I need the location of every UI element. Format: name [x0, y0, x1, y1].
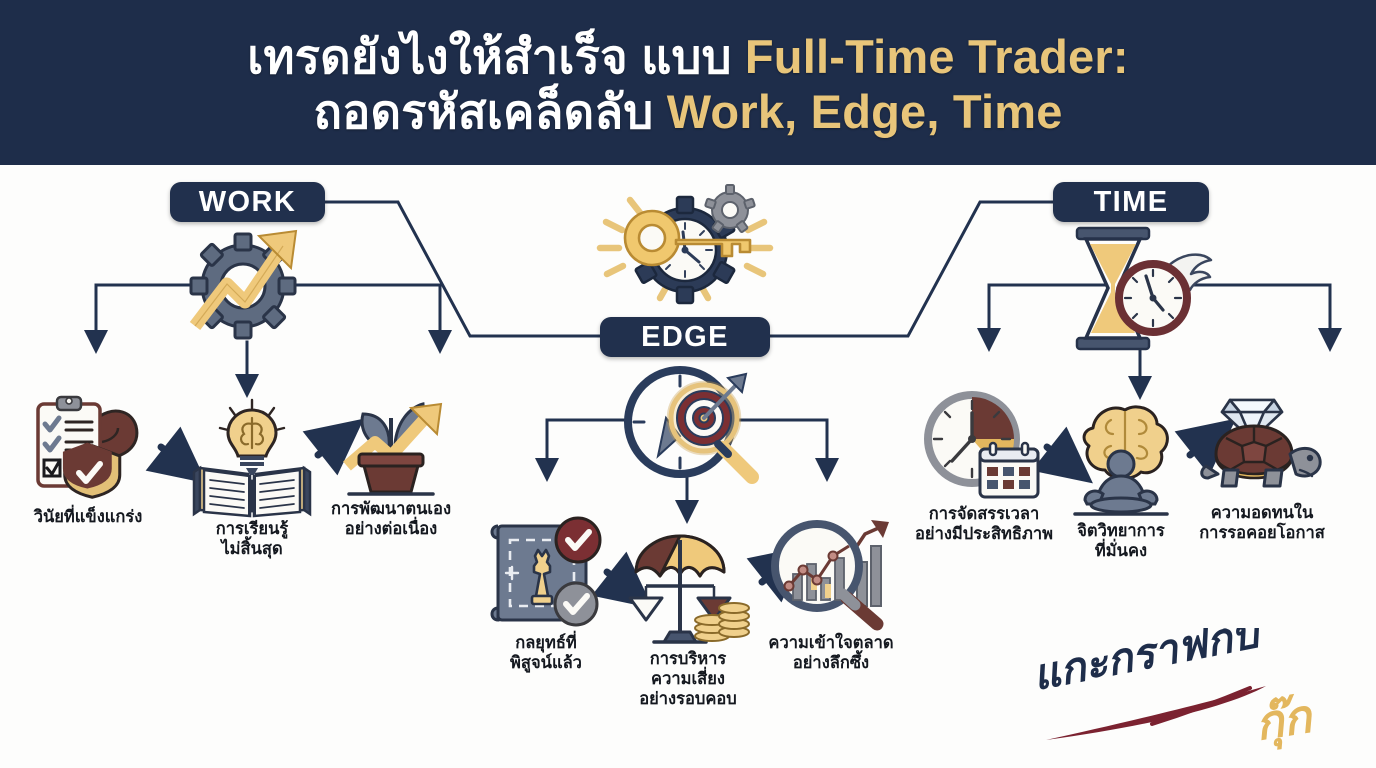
open-book-lightbulb-brain-icon	[186, 398, 318, 518]
leaf-time-2: จิตวิทยาการ ที่มั่นคง	[1055, 400, 1187, 562]
umbrella-scales-coins-icon	[622, 528, 754, 648]
title-english-2: Work, Edge, Time	[667, 85, 1063, 138]
leaf-caption: ความอดทนใน การรอคอยโอกาส	[1199, 504, 1325, 544]
leaf-time-3: ความอดทนใน การรอคอยโอกาส	[1196, 382, 1328, 544]
leaf-work-1: วินัยที่แข็งแกร่ง	[22, 386, 154, 528]
leaf-caption: การบริหาร ความเสี่ยง อย่างรอบคอบ	[639, 650, 737, 709]
title-thai-2: ถอดรหัสเคล็ดลับ	[313, 85, 666, 138]
brand-logo: แกะกราฟกับ กุ๊ก	[1030, 628, 1366, 756]
hourglass-winged-clock-icon	[1050, 222, 1215, 357]
logo-text-primary: แกะกราฟกับ	[1030, 628, 1266, 699]
leaf-edge-1: กลยุทธ์ที่ พิสูจน์แล้ว	[480, 512, 612, 674]
golden-key-clock-gear-icon	[590, 178, 780, 313]
title-line-2: ถอดรหัสเคล็ดลับ Work, Edge, Time	[313, 88, 1062, 137]
leaf-caption: วินัยที่แข็งแกร่ง	[34, 508, 143, 528]
leaf-edge-3: ความเข้าใจตลาด อย่างลึกซึ้ง	[765, 512, 897, 674]
turtle-diamond-icon	[1196, 382, 1328, 502]
infographic-canvas: เทรดยังไงให้สำเร็จ แบบ Full-Time Trader:…	[0, 0, 1376, 768]
magnifier-chart-icon	[765, 512, 897, 632]
pillar-label-time[interactable]: TIME	[1053, 182, 1209, 222]
blueprint-chess-checkmarks-icon	[480, 512, 612, 632]
clipboard-muscle-shield-icon	[22, 386, 154, 506]
title-english-1: Full-Time Trader:	[745, 30, 1129, 83]
leaf-caption: กลยุทธ์ที่ พิสูจน์แล้ว	[510, 634, 582, 674]
leaf-caption: การเรียนรู้ ไม่สิ้นสุด	[216, 520, 288, 560]
title-line-1: เทรดยังไงให้สำเร็จ แบบ Full-Time Trader:	[247, 33, 1128, 82]
leaf-caption: ความเข้าใจตลาด อย่างลึกซึ้ง	[768, 634, 893, 674]
potted-plant-growth-arrow-icon	[325, 378, 457, 498]
pillar-label-work[interactable]: WORK	[170, 182, 325, 222]
leaf-edge-2: การบริหาร ความเสี่ยง อย่างรอบคอบ	[622, 528, 754, 709]
leaf-caption: จิตวิทยาการ ที่มั่นคง	[1077, 522, 1165, 562]
target-magnifier-compass-icon	[600, 360, 775, 490]
header-band: เทรดยังไงให้สำเร็จ แบบ Full-Time Trader:…	[0, 0, 1376, 165]
leaf-caption: การพัฒนาตนเอง อย่างต่อเนื่อง	[331, 500, 451, 540]
brain-meditation-icon	[1055, 400, 1187, 520]
leaf-work-3: การพัฒนาตนเอง อย่างต่อเนื่อง	[325, 378, 457, 540]
logo-text-accent: กุ๊ก	[1251, 689, 1318, 753]
gear-growth-arrow-icon	[165, 222, 330, 342]
title-thai-1: เทรดยังไงให้สำเร็จ แบบ	[247, 30, 745, 83]
leaf-time-1: การจัดสรรเวลา อย่างมีประสิทธิภาพ	[915, 383, 1053, 545]
leaf-caption: การจัดสรรเวลา อย่างมีประสิทธิภาพ	[915, 505, 1053, 545]
leaf-work-2: การเรียนรู้ ไม่สิ้นสุด	[186, 398, 318, 560]
clock-calendar-icon	[918, 383, 1050, 503]
pillar-label-edge[interactable]: EDGE	[600, 317, 770, 357]
